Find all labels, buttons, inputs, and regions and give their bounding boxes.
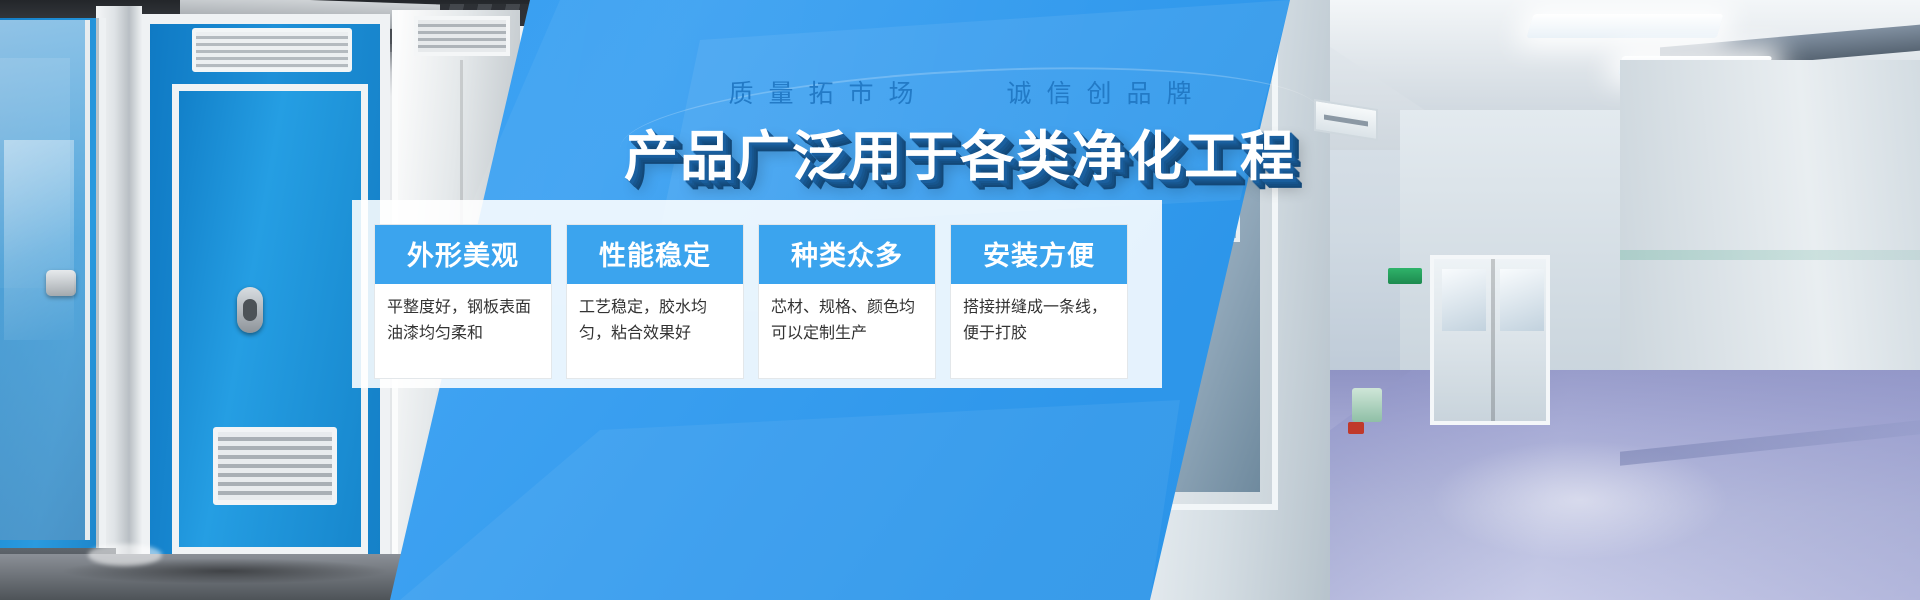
feature-card[interactable]: 性能稳定 工艺稳定，胶水均匀，粘合效果好 [566,224,744,379]
feature-card-title: 安装方便 [951,225,1127,284]
door-window [1500,269,1544,331]
feature-cards-list: 外形美观 平整度好，钢板表面油漆均匀柔和 性能稳定 工艺稳定，胶水均匀，粘合效果… [352,200,1162,403]
door-window [1442,269,1486,331]
cabin-vent [192,28,352,72]
promo-banner: 质量拓市场 诚信创品牌 产品广泛用于各类净化工程 外形美观 平整度好，钢板表面油… [0,0,1920,600]
corridor-end-door [1430,255,1550,425]
cabin-vent [414,16,510,56]
banner-subtitle: 质量拓市场 诚信创品牌 [0,74,1920,110]
fire-extinguisher [1348,422,1364,434]
feature-card-title: 外形美观 [375,225,551,284]
banner-headline: 产品广泛用于各类净化工程 [0,112,1920,191]
feature-card-body: 芯材、规格、颜色均可以定制生产 [759,284,935,378]
feature-card[interactable]: 安装方便 搭接拼缝成一条线，便于打胶 [950,224,1128,379]
feature-card-body: 平整度好，钢板表面油漆均匀柔和 [375,284,551,378]
partition-lock [46,270,76,296]
subtitle-part-left: 质量拓市场 [729,80,929,108]
ceiling-light [1527,14,1724,38]
feature-card[interactable]: 种类众多 芯材、规格、颜色均可以定制生产 [758,224,936,379]
door-louver [213,427,337,505]
feature-cards-panel: 外形美观 平整度好，钢板表面油漆均匀柔和 性能稳定 工艺稳定，胶水均匀，粘合效果… [352,200,1162,388]
wall-accent-line [1620,250,1920,260]
subtitle-part-right: 诚信创品牌 [1006,80,1206,108]
door-handle [237,287,263,333]
exit-sign-icon [1388,268,1422,284]
feature-card-body: 工艺稳定，胶水均匀，粘合效果好 [567,284,743,378]
floor-puddle [88,544,162,566]
feature-card-title: 性能稳定 [567,225,743,284]
feature-card-body: 搭接拼缝成一条线，便于打胶 [951,284,1127,378]
corridor-equipment [1352,388,1382,422]
feature-card[interactable]: 外形美观 平整度好，钢板表面油漆均匀柔和 [374,224,552,379]
feature-card-title: 种类众多 [759,225,935,284]
